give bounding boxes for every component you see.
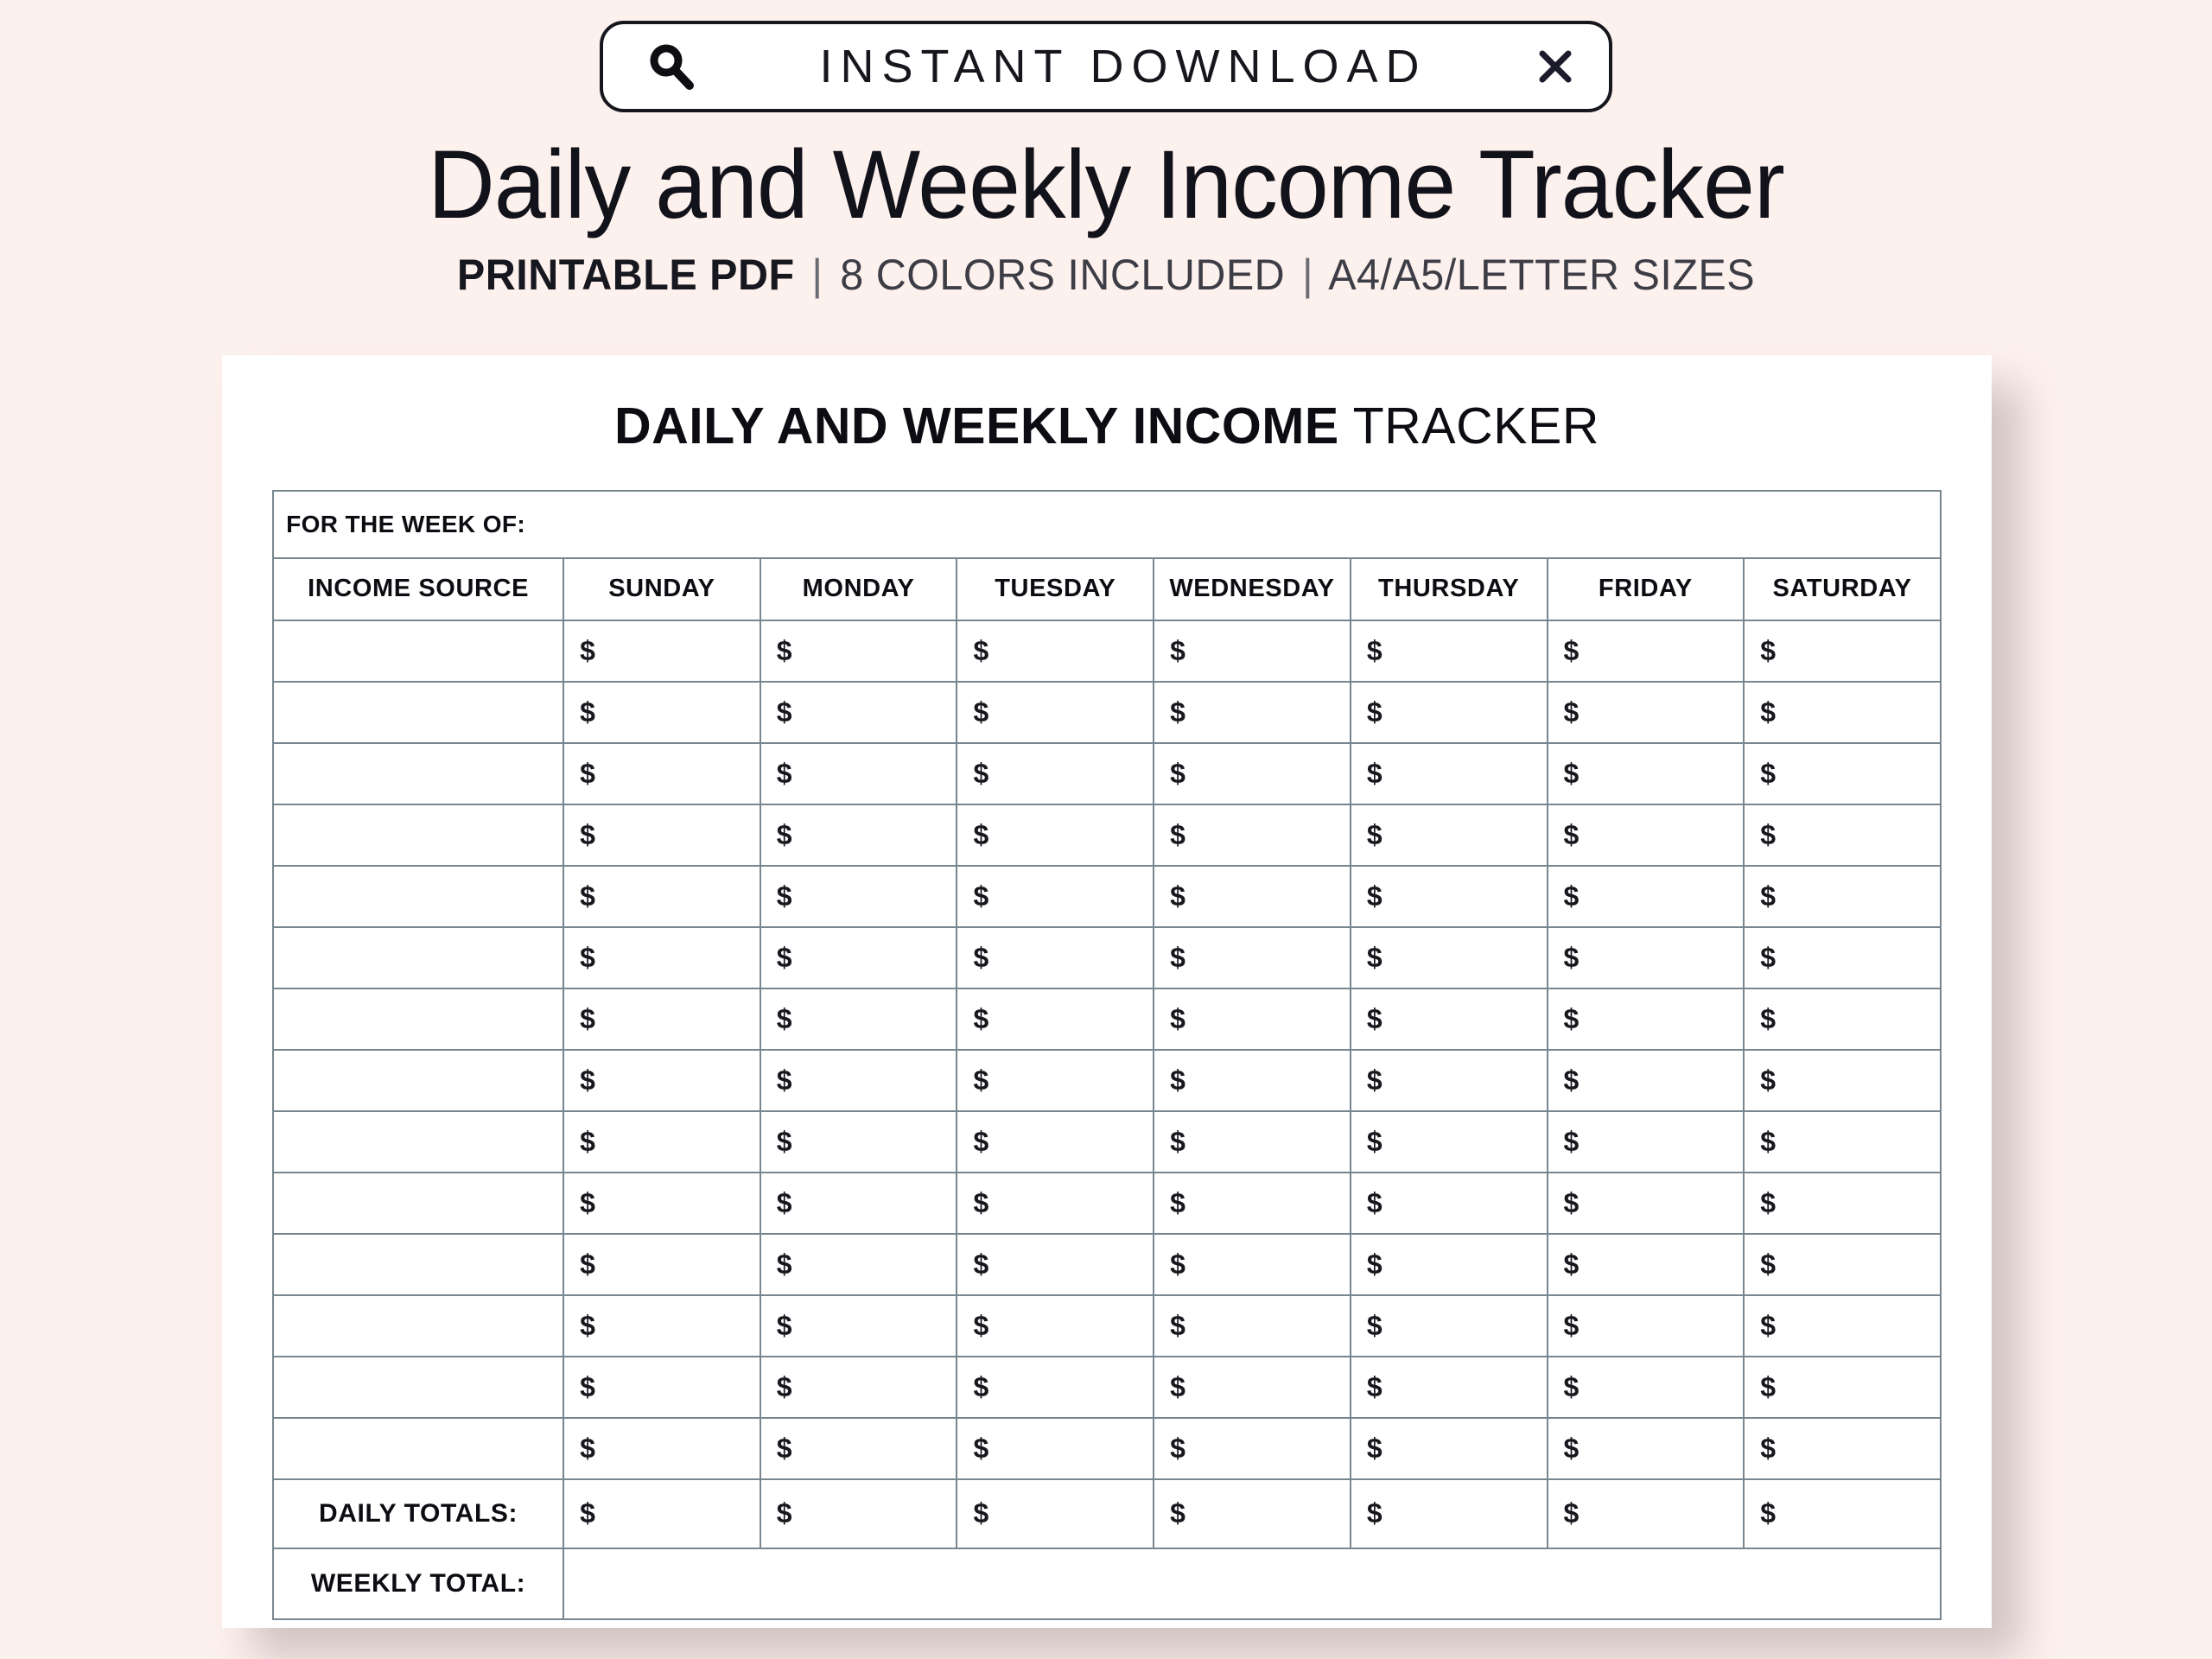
amount-cell[interactable]: $	[1744, 927, 1941, 988]
amount-cell[interactable]: $	[1548, 988, 1745, 1050]
amount-cell[interactable]: $	[1351, 804, 1548, 866]
income-source-input[interactable]	[273, 1111, 563, 1173]
amount-cell[interactable]: $	[1154, 1295, 1351, 1357]
amount-cell[interactable]: $	[760, 1173, 957, 1234]
daily-total-cell[interactable]: $	[957, 1479, 1154, 1548]
subtitle-separator-2: |	[1297, 251, 1319, 299]
amount-cell[interactable]: $	[563, 1357, 760, 1418]
listing-banner-bar: INSTANT DOWNLOAD	[0, 21, 2212, 112]
amount-cell[interactable]: $	[1154, 1357, 1351, 1418]
amount-cell[interactable]: $	[760, 1418, 957, 1479]
income-source-input[interactable]	[273, 866, 563, 927]
amount-cell[interactable]: $	[1351, 1234, 1548, 1295]
amount-cell[interactable]: $	[1548, 804, 1745, 866]
table-row: $$$$$$$	[273, 1357, 1941, 1418]
amount-cell[interactable]: $	[563, 743, 760, 804]
amount-cell[interactable]: $	[1351, 682, 1548, 743]
amount-cell[interactable]: $	[1351, 1357, 1548, 1418]
amount-cell[interactable]: $	[1548, 1050, 1745, 1111]
amount-cell[interactable]: $	[563, 988, 760, 1050]
income-source-input[interactable]	[273, 1295, 563, 1357]
column-header-sunday: SUNDAY	[563, 558, 760, 620]
amount-cell[interactable]: $	[957, 620, 1154, 682]
column-header-monday: MONDAY	[760, 558, 957, 620]
amount-cell[interactable]: $	[1154, 1111, 1351, 1173]
amount-cell[interactable]: $	[1154, 1418, 1351, 1479]
amount-cell[interactable]: $	[957, 1173, 1154, 1234]
amount-cell[interactable]: $	[957, 682, 1154, 743]
amount-cell[interactable]: $	[563, 1111, 760, 1173]
amount-cell[interactable]: $	[957, 1418, 1154, 1479]
daily-total-cell[interactable]: $	[760, 1479, 957, 1548]
amount-cell[interactable]: $	[563, 682, 760, 743]
daily-total-cell[interactable]: $	[1351, 1479, 1548, 1548]
tracker-sheet-card: DAILY AND WEEKLY INCOME TRACKER FOR THE …	[222, 355, 1992, 1628]
column-header-saturday: SATURDAY	[1744, 558, 1941, 620]
amount-cell[interactable]: $	[563, 620, 760, 682]
amount-cell[interactable]: $	[563, 1418, 760, 1479]
income-source-input[interactable]	[273, 1173, 563, 1234]
close-icon[interactable]	[1535, 46, 1576, 87]
amount-cell[interactable]: $	[1351, 743, 1548, 804]
daily-totals-row: DAILY TOTALS:$$$$$$$	[273, 1479, 1941, 1548]
income-source-input[interactable]	[273, 804, 563, 866]
amount-cell[interactable]: $	[1351, 866, 1548, 927]
daily-total-cell[interactable]: $	[1548, 1479, 1745, 1548]
daily-total-cell[interactable]: $	[1744, 1479, 1941, 1548]
amount-cell[interactable]: $	[1744, 620, 1941, 682]
amount-cell[interactable]: $	[1548, 1418, 1745, 1479]
amount-cell[interactable]: $	[760, 1357, 957, 1418]
amount-cell[interactable]: $	[563, 1050, 760, 1111]
table-row: $$$$$$$	[273, 804, 1941, 866]
amount-cell[interactable]: $	[1351, 1111, 1548, 1173]
amount-cell[interactable]: $	[1548, 620, 1745, 682]
amount-cell[interactable]: $	[760, 743, 957, 804]
instant-download-pill[interactable]: INSTANT DOWNLOAD	[600, 21, 1612, 112]
amount-cell[interactable]: $	[563, 1173, 760, 1234]
amount-cell[interactable]: $	[1154, 1050, 1351, 1111]
subtitle-format: PRINTABLE PDF	[457, 251, 795, 299]
table-row: $$$$$$$	[273, 1418, 1941, 1479]
amount-cell[interactable]: $	[1744, 682, 1941, 743]
amount-cell[interactable]: $	[563, 1234, 760, 1295]
column-header-thursday: THURSDAY	[1351, 558, 1548, 620]
amount-cell[interactable]: $	[957, 988, 1154, 1050]
amount-cell[interactable]: $	[760, 1295, 957, 1357]
income-source-input[interactable]	[273, 1418, 563, 1479]
daily-totals-label: DAILY TOTALS:	[273, 1479, 563, 1548]
amount-cell[interactable]: $	[1744, 1111, 1941, 1173]
amount-cell[interactable]: $	[1744, 804, 1941, 866]
table-row: $$$$$$$	[273, 682, 1941, 743]
income-source-input[interactable]	[273, 1234, 563, 1295]
income-source-input[interactable]	[273, 682, 563, 743]
amount-cell[interactable]: $	[1548, 743, 1745, 804]
amount-cell[interactable]: $	[563, 1295, 760, 1357]
table-row: $$$$$$$	[273, 866, 1941, 927]
amount-cell[interactable]: $	[1154, 1234, 1351, 1295]
weekly-total-label: WEEKLY TOTAL:	[273, 1548, 563, 1619]
amount-cell[interactable]: $	[1351, 620, 1548, 682]
week-of-row: FOR THE WEEK OF:	[273, 491, 1941, 558]
amount-cell[interactable]: $	[1548, 1111, 1745, 1173]
table-row: $$$$$$$	[273, 1295, 1941, 1357]
amount-cell[interactable]: $	[1744, 866, 1941, 927]
subtitle-sizes: A4/A5/LETTER SIZES	[1328, 251, 1755, 299]
amount-cell[interactable]: $	[760, 866, 957, 927]
amount-cell[interactable]: $	[760, 1234, 957, 1295]
amount-cell[interactable]: $	[1154, 866, 1351, 927]
amount-cell[interactable]: $	[1351, 1295, 1548, 1357]
amount-cell[interactable]: $	[1548, 1234, 1745, 1295]
amount-cell[interactable]: $	[1744, 1418, 1941, 1479]
sheet-heading: DAILY AND WEEKLY INCOME TRACKER	[222, 398, 1992, 454]
amount-cell[interactable]: $	[1744, 1234, 1941, 1295]
table-row: $$$$$$$	[273, 1111, 1941, 1173]
amount-cell[interactable]: $	[957, 1357, 1154, 1418]
income-source-input[interactable]	[273, 1357, 563, 1418]
amount-cell[interactable]: $	[1548, 1295, 1745, 1357]
income-source-input[interactable]	[273, 927, 563, 988]
amount-cell[interactable]: $	[563, 866, 760, 927]
amount-cell[interactable]: $	[760, 988, 957, 1050]
amount-cell[interactable]: $	[1351, 1050, 1548, 1111]
page-title: Daily and Weekly Income Tracker	[44, 137, 2168, 233]
amount-cell[interactable]: $	[1548, 866, 1745, 927]
amount-cell[interactable]: $	[1154, 927, 1351, 988]
week-of-field[interactable]: FOR THE WEEK OF:	[273, 491, 1941, 558]
weekly-total-input[interactable]	[563, 1548, 1941, 1619]
income-source-input[interactable]	[273, 988, 563, 1050]
amount-cell[interactable]: $	[760, 804, 957, 866]
table-row: $$$$$$$	[273, 988, 1941, 1050]
column-header-wednesday: WEDNESDAY	[1154, 558, 1351, 620]
income-source-input[interactable]	[273, 620, 563, 682]
amount-cell[interactable]: $	[1154, 743, 1351, 804]
amount-cell[interactable]: $	[1548, 927, 1745, 988]
table-row: $$$$$$$	[273, 620, 1941, 682]
amount-cell[interactable]: $	[957, 804, 1154, 866]
subtitle-separator-1: |	[807, 251, 829, 299]
income-source-input[interactable]	[273, 743, 563, 804]
weekly-total-row: WEEKLY TOTAL:	[273, 1548, 1941, 1619]
table-header-row: INCOME SOURCESUNDAYMONDAYTUESDAYWEDNESDA…	[273, 558, 1941, 620]
search-icon[interactable]	[646, 41, 696, 92]
amount-cell[interactable]: $	[957, 866, 1154, 927]
amount-cell[interactable]: $	[1351, 1418, 1548, 1479]
amount-cell[interactable]: $	[1548, 1173, 1745, 1234]
headline-block: Daily and Weekly Income Tracker PRINTABL…	[0, 137, 2212, 298]
amount-cell[interactable]: $	[957, 1295, 1154, 1357]
amount-cell[interactable]: $	[563, 804, 760, 866]
amount-cell[interactable]: $	[563, 927, 760, 988]
income-tracker-table: FOR THE WEEK OF:INCOME SOURCESUNDAYMONDA…	[272, 490, 1942, 1620]
table-row: $$$$$$$	[273, 927, 1941, 988]
column-header-income-source: INCOME SOURCE	[273, 558, 563, 620]
amount-cell[interactable]: $	[957, 1234, 1154, 1295]
amount-cell[interactable]: $	[1744, 1050, 1941, 1111]
column-header-friday: FRIDAY	[1548, 558, 1745, 620]
amount-cell[interactable]: $	[957, 1050, 1154, 1111]
amount-cell[interactable]: $	[760, 1111, 957, 1173]
amount-cell[interactable]: $	[1744, 1295, 1941, 1357]
table-row: $$$$$$$	[273, 1173, 1941, 1234]
sheet-heading-light: TRACKER	[1353, 397, 1599, 454]
amount-cell[interactable]: $	[1154, 1173, 1351, 1234]
amount-cell[interactable]: $	[760, 620, 957, 682]
amount-cell[interactable]: $	[760, 1050, 957, 1111]
amount-cell[interactable]: $	[957, 1111, 1154, 1173]
amount-cell[interactable]: $	[1154, 804, 1351, 866]
daily-total-cell[interactable]: $	[1154, 1479, 1351, 1548]
amount-cell[interactable]: $	[1548, 682, 1745, 743]
amount-cell[interactable]: $	[1548, 1357, 1745, 1418]
amount-cell[interactable]: $	[1154, 620, 1351, 682]
instant-download-label: INSTANT DOWNLOAD	[696, 40, 1535, 93]
amount-cell[interactable]: $	[1351, 927, 1548, 988]
amount-cell[interactable]: $	[1744, 743, 1941, 804]
daily-total-cell[interactable]: $	[563, 1479, 760, 1548]
subtitle-colors: 8 COLORS INCLUDED	[840, 251, 1285, 299]
amount-cell[interactable]: $	[1744, 1173, 1941, 1234]
amount-cell[interactable]: $	[957, 743, 1154, 804]
amount-cell[interactable]: $	[957, 927, 1154, 988]
amount-cell[interactable]: $	[760, 927, 957, 988]
sheet-heading-bold: DAILY AND WEEKLY INCOME	[614, 397, 1339, 454]
amount-cell[interactable]: $	[760, 682, 957, 743]
table-row: $$$$$$$	[273, 1050, 1941, 1111]
income-source-input[interactable]	[273, 1050, 563, 1111]
amount-cell[interactable]: $	[1744, 988, 1941, 1050]
column-header-tuesday: TUESDAY	[957, 558, 1154, 620]
amount-cell[interactable]: $	[1744, 1357, 1941, 1418]
amount-cell[interactable]: $	[1351, 1173, 1548, 1234]
amount-cell[interactable]: $	[1154, 988, 1351, 1050]
table-row: $$$$$$$	[273, 743, 1941, 804]
table-row: $$$$$$$	[273, 1234, 1941, 1295]
amount-cell[interactable]: $	[1154, 682, 1351, 743]
amount-cell[interactable]: $	[1351, 988, 1548, 1050]
page-subtitle: PRINTABLE PDF | 8 COLORS INCLUDED | A4/A…	[33, 252, 2178, 298]
